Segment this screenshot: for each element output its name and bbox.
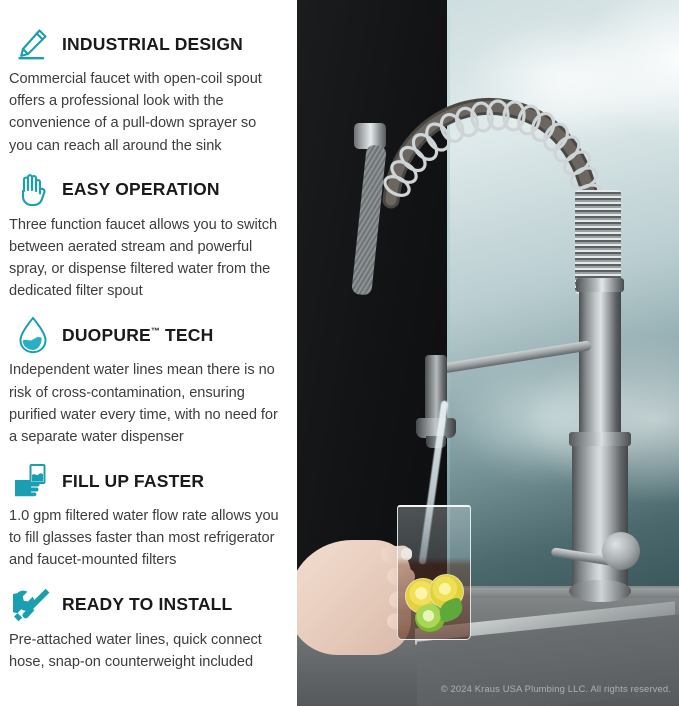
feature-description: 1.0 gpm filtered water flow rate allows … <box>8 505 283 572</box>
feature-fill-up-faster: FILL UP FASTER 1.0 gpm filtered water fl… <box>8 459 283 572</box>
feature-description: Pre-attached water lines, quick connect … <box>8 629 283 673</box>
faucet-handle-knob <box>602 532 640 570</box>
feature-description: Independent water lines mean there is no… <box>8 359 283 448</box>
pencil-icon <box>10 22 56 66</box>
feature-title: FILL UP FASTER <box>62 471 204 492</box>
product-photo: © 2024 Kraus USA Plumbing LLC. All right… <box>297 0 679 706</box>
feature-header: FILL UP FASTER <box>8 459 283 503</box>
feature-title: EASY OPERATION <box>62 179 220 200</box>
feature-industrial-design: INDUSTRIAL DESIGN Commercial faucet with… <box>8 22 283 157</box>
feature-duopure-tech: DUOPURE™ TECH Independent water lines me… <box>8 313 283 448</box>
faucet-column-top <box>569 432 631 446</box>
feature-header: EASY OPERATION <box>8 168 283 212</box>
feature-title: DUOPURE™ TECH <box>62 325 213 346</box>
feature-list: INDUSTRIAL DESIGN Commercial faucet with… <box>0 0 297 706</box>
feature-easy-operation: EASY OPERATION Three function faucet all… <box>8 168 283 303</box>
feature-header: READY TO INSTALL <box>8 583 283 627</box>
trademark-symbol: ™ <box>151 326 160 336</box>
hand-holding-glass-icon <box>10 459 56 503</box>
feature-title: READY TO INSTALL <box>62 594 232 615</box>
feature-header: INDUSTRIAL DESIGN <box>8 22 283 66</box>
water-drop-icon <box>10 313 56 357</box>
feature-description: Commercial faucet with open-coil spout o… <box>8 68 283 157</box>
hand-icon <box>10 168 56 212</box>
feature-title: INDUSTRIAL DESIGN <box>62 34 243 55</box>
copyright-notice: © 2024 Kraus USA Plumbing LLC. All right… <box>441 683 671 694</box>
faucet-neck-collar <box>576 278 624 292</box>
product-feature-infographic: INDUSTRIAL DESIGN Commercial faucet with… <box>0 0 679 706</box>
wrench-screwdriver-icon <box>10 583 56 627</box>
feature-description: Three function faucet allows you to swit… <box>8 214 283 303</box>
faucet-base <box>569 580 631 602</box>
faucet-neck <box>579 286 621 438</box>
feature-ready-to-install: READY TO INSTALL Pre-attached water line… <box>8 583 283 673</box>
feature-header: DUOPURE™ TECH <box>8 313 283 357</box>
